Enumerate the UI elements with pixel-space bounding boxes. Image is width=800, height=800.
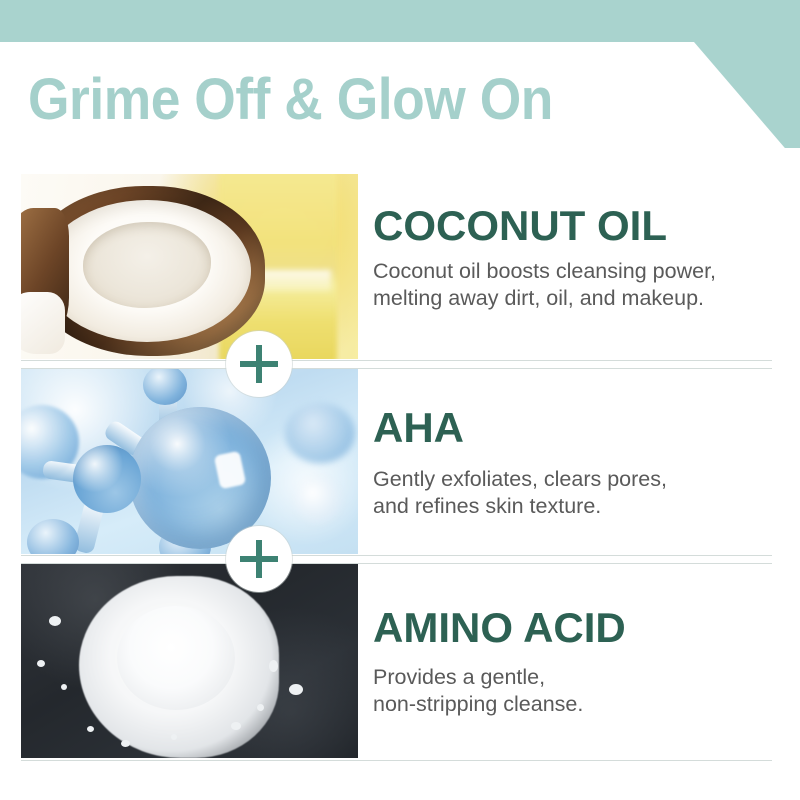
plus-icon-vertical-bar: [256, 345, 262, 383]
ingredient-row-aha: AHA Gently exfoliates, clears pores, and…: [0, 369, 800, 554]
ingredient-row-amino-acid: AMINO ACID Provides a gentle, non-stripp…: [0, 564, 800, 758]
ingredient-title: AMINO ACID: [373, 604, 774, 652]
ingredient-description: Provides a gentle, non-stripping cleanse…: [373, 664, 774, 718]
coconut-half-with-oil-jar-photo: [21, 174, 358, 359]
ingredient-row-coconut-oil: COCONUT OIL Coconut oil boosts cleansing…: [0, 174, 800, 359]
ingredient-text-coconut-oil: COCONUT OIL Coconut oil boosts cleansing…: [358, 174, 800, 359]
ingredient-description: Coconut oil boosts cleansing power, melt…: [373, 258, 774, 312]
ingredient-title: AHA: [373, 404, 774, 452]
ingredient-text-amino-acid: AMINO ACID Provides a gentle, non-stripp…: [358, 564, 800, 758]
bottom-margin: [0, 761, 800, 800]
row-divider: [21, 360, 772, 361]
row-divider: [21, 368, 772, 369]
plus-icon: [226, 526, 292, 592]
white-powder-on-slate-photo: [21, 564, 358, 758]
ingredient-description: Gently exfoliates, clears pores, and ref…: [373, 466, 774, 520]
ingredient-text-aha: AHA Gently exfoliates, clears pores, and…: [358, 369, 800, 554]
plus-icon: [226, 331, 292, 397]
page-title: Grime Off & Glow On: [28, 62, 635, 138]
row-divider: [21, 555, 772, 556]
row-divider: [21, 563, 772, 564]
plus-icon-vertical-bar: [256, 540, 262, 578]
blue-molecule-render-photo: [21, 369, 358, 554]
ingredient-title: COCONUT OIL: [373, 202, 774, 250]
